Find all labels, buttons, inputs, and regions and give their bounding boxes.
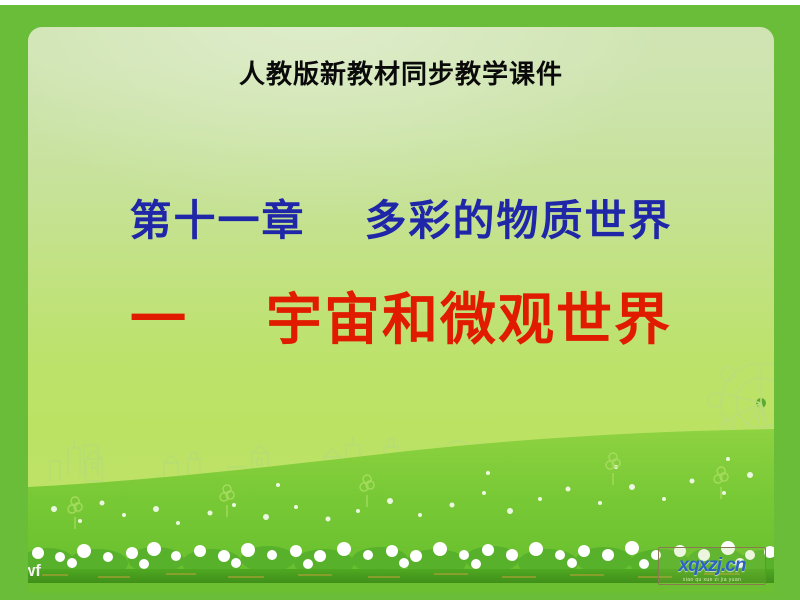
chapter-title-number: 第十一章 bbox=[129, 199, 305, 245]
site-watermark-logo: xqxzj.cn xiao qu xue zi jia yuan bbox=[658, 547, 766, 585]
section-title-name: 宇宙和微观世界 bbox=[266, 290, 672, 352]
page-title: 人教版新教材同步教学课件 bbox=[28, 54, 774, 91]
slide-content-panel: 人教版新教材同步教学课件 第十一章 多彩的物质世界 一 宇宙和微观世界 wf x… bbox=[28, 27, 774, 593]
section-number: 一 bbox=[130, 290, 188, 352]
site-watermark-logo-subtext: xiao qu xue zi jia yuan bbox=[659, 577, 765, 583]
chapter-title: 第十一章 多彩的物质世界 bbox=[28, 187, 774, 248]
ferris-wheel-icon bbox=[708, 363, 774, 488]
hill-flower-dots bbox=[51, 457, 753, 525]
chapter-title-name: 多彩的物质世界 bbox=[365, 199, 673, 245]
hill-flower-outlines bbox=[68, 453, 728, 529]
city-skyline-outline bbox=[50, 437, 506, 483]
section-title: 一 宇宙和微观世界 bbox=[28, 275, 774, 356]
site-watermark-logo-text: xqxzj.cn bbox=[679, 555, 746, 577]
slide-canvas: 人教版新教材同步教学课件 第十一章 多彩的物质世界 一 宇宙和微观世界 wf x… bbox=[0, 0, 800, 600]
watermark-left-text: wf bbox=[28, 561, 41, 581]
